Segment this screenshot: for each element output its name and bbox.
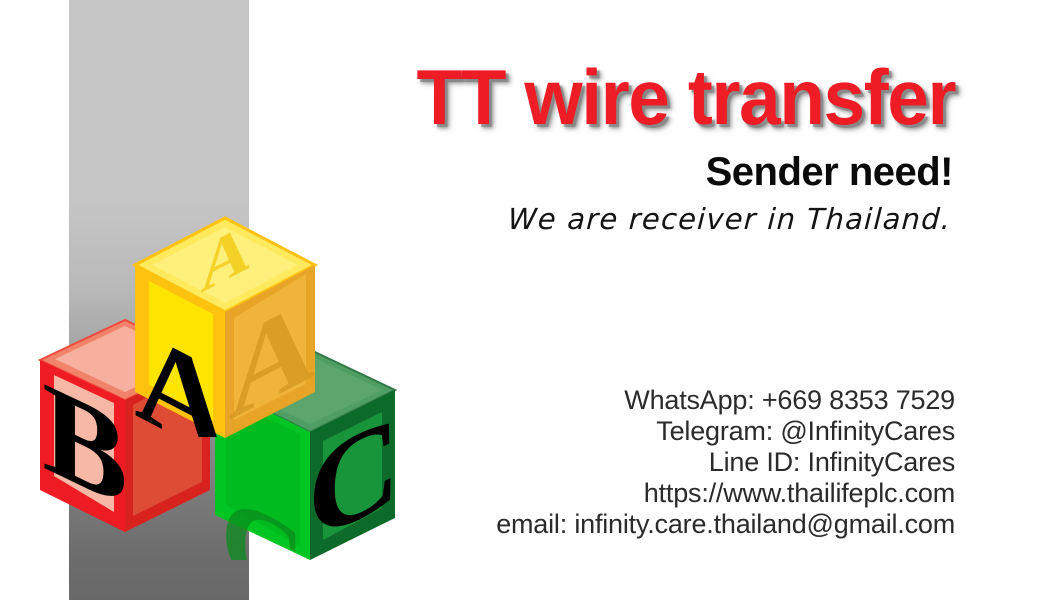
- text-column: TT wire transfer Sender need! We are rec…: [260, 0, 955, 600]
- poster-canvas: B C C: [0, 0, 1063, 600]
- contact-block: WhatsApp: +669 8353 7529 Telegram: @Infi…: [260, 385, 955, 540]
- contact-whatsapp[interactable]: WhatsApp: +669 8353 7529: [260, 385, 955, 416]
- contact-email[interactable]: email: infinity.care.thailand@gmail.com: [260, 509, 955, 540]
- subtitle: Sender need!: [706, 152, 953, 192]
- contact-line-id[interactable]: Line ID: InfinityCares: [260, 447, 955, 478]
- contact-telegram[interactable]: Telegram: @InfinityCares: [260, 416, 955, 447]
- tagline: We are receiver in Thailand.: [507, 204, 952, 236]
- contact-website[interactable]: https://www.thailifeplc.com: [260, 478, 955, 509]
- page-title: TT wire transfer: [416, 58, 955, 136]
